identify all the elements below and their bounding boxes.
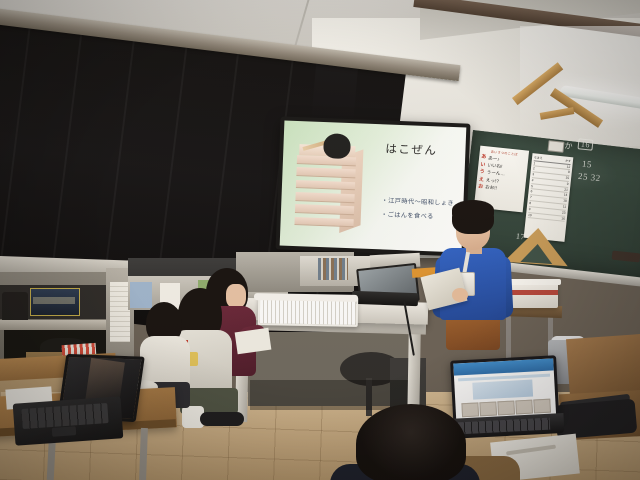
stacked-papers — [110, 282, 130, 342]
laptop-foreground-screen[interactable] — [450, 355, 559, 422]
presentation-screen[interactable]: はこぜん ・江戸時代〜昭和しょき ・ごはんを食べる — [276, 116, 471, 256]
child-foreground-head — [356, 404, 466, 480]
laptop-bag — [555, 399, 638, 440]
laptop-on-table-keyboard[interactable] — [352, 291, 418, 306]
laptop-left-trackpad[interactable] — [52, 426, 77, 437]
triangle-ruler-cutout — [520, 243, 553, 264]
books-stack — [318, 258, 348, 280]
storage-box-band — [508, 290, 558, 295]
table-shadow — [250, 380, 410, 410]
shelf-board — [0, 320, 122, 330]
page-thumbnail — [533, 399, 551, 413]
classroom-photo: 4.1か 16 8 15 17 25 32 17 あいさつのことば ああー♪ い… — [0, 0, 640, 480]
page-thumbnail — [515, 400, 533, 414]
box-label — [33, 297, 75, 304]
storage-box-lid — [505, 279, 561, 285]
page-hero-image — [472, 380, 533, 400]
chalk-number: 15 — [582, 159, 593, 170]
wooden-desk-right — [566, 333, 640, 399]
page-thumbnail — [497, 401, 515, 415]
wall-clock-icon — [547, 140, 564, 153]
browser-page — [453, 358, 556, 419]
chalk-box-number: 16 — [577, 138, 593, 151]
page-thumbnail — [461, 403, 479, 417]
child-seated-back-face — [226, 284, 246, 308]
child-shoe — [200, 412, 244, 426]
pinned-sheet-blue — [130, 282, 152, 308]
presenter-pants — [446, 316, 500, 350]
slide-bullet: ・ごはんを食べる — [381, 209, 434, 220]
presenter-hand — [452, 288, 468, 302]
hakozen-illustration — [289, 136, 373, 234]
slide-title: はこぜん — [385, 141, 438, 159]
slide-bullet: ・江戸時代〜昭和しょき — [381, 196, 454, 208]
held-paper — [235, 328, 272, 355]
page-thumbnail — [479, 402, 497, 416]
storage-box-white — [508, 282, 558, 308]
presenter-bangs — [452, 200, 494, 220]
slide-surface: はこぜん ・江戸時代〜昭和しょき ・ごはんを食べる — [280, 121, 467, 253]
